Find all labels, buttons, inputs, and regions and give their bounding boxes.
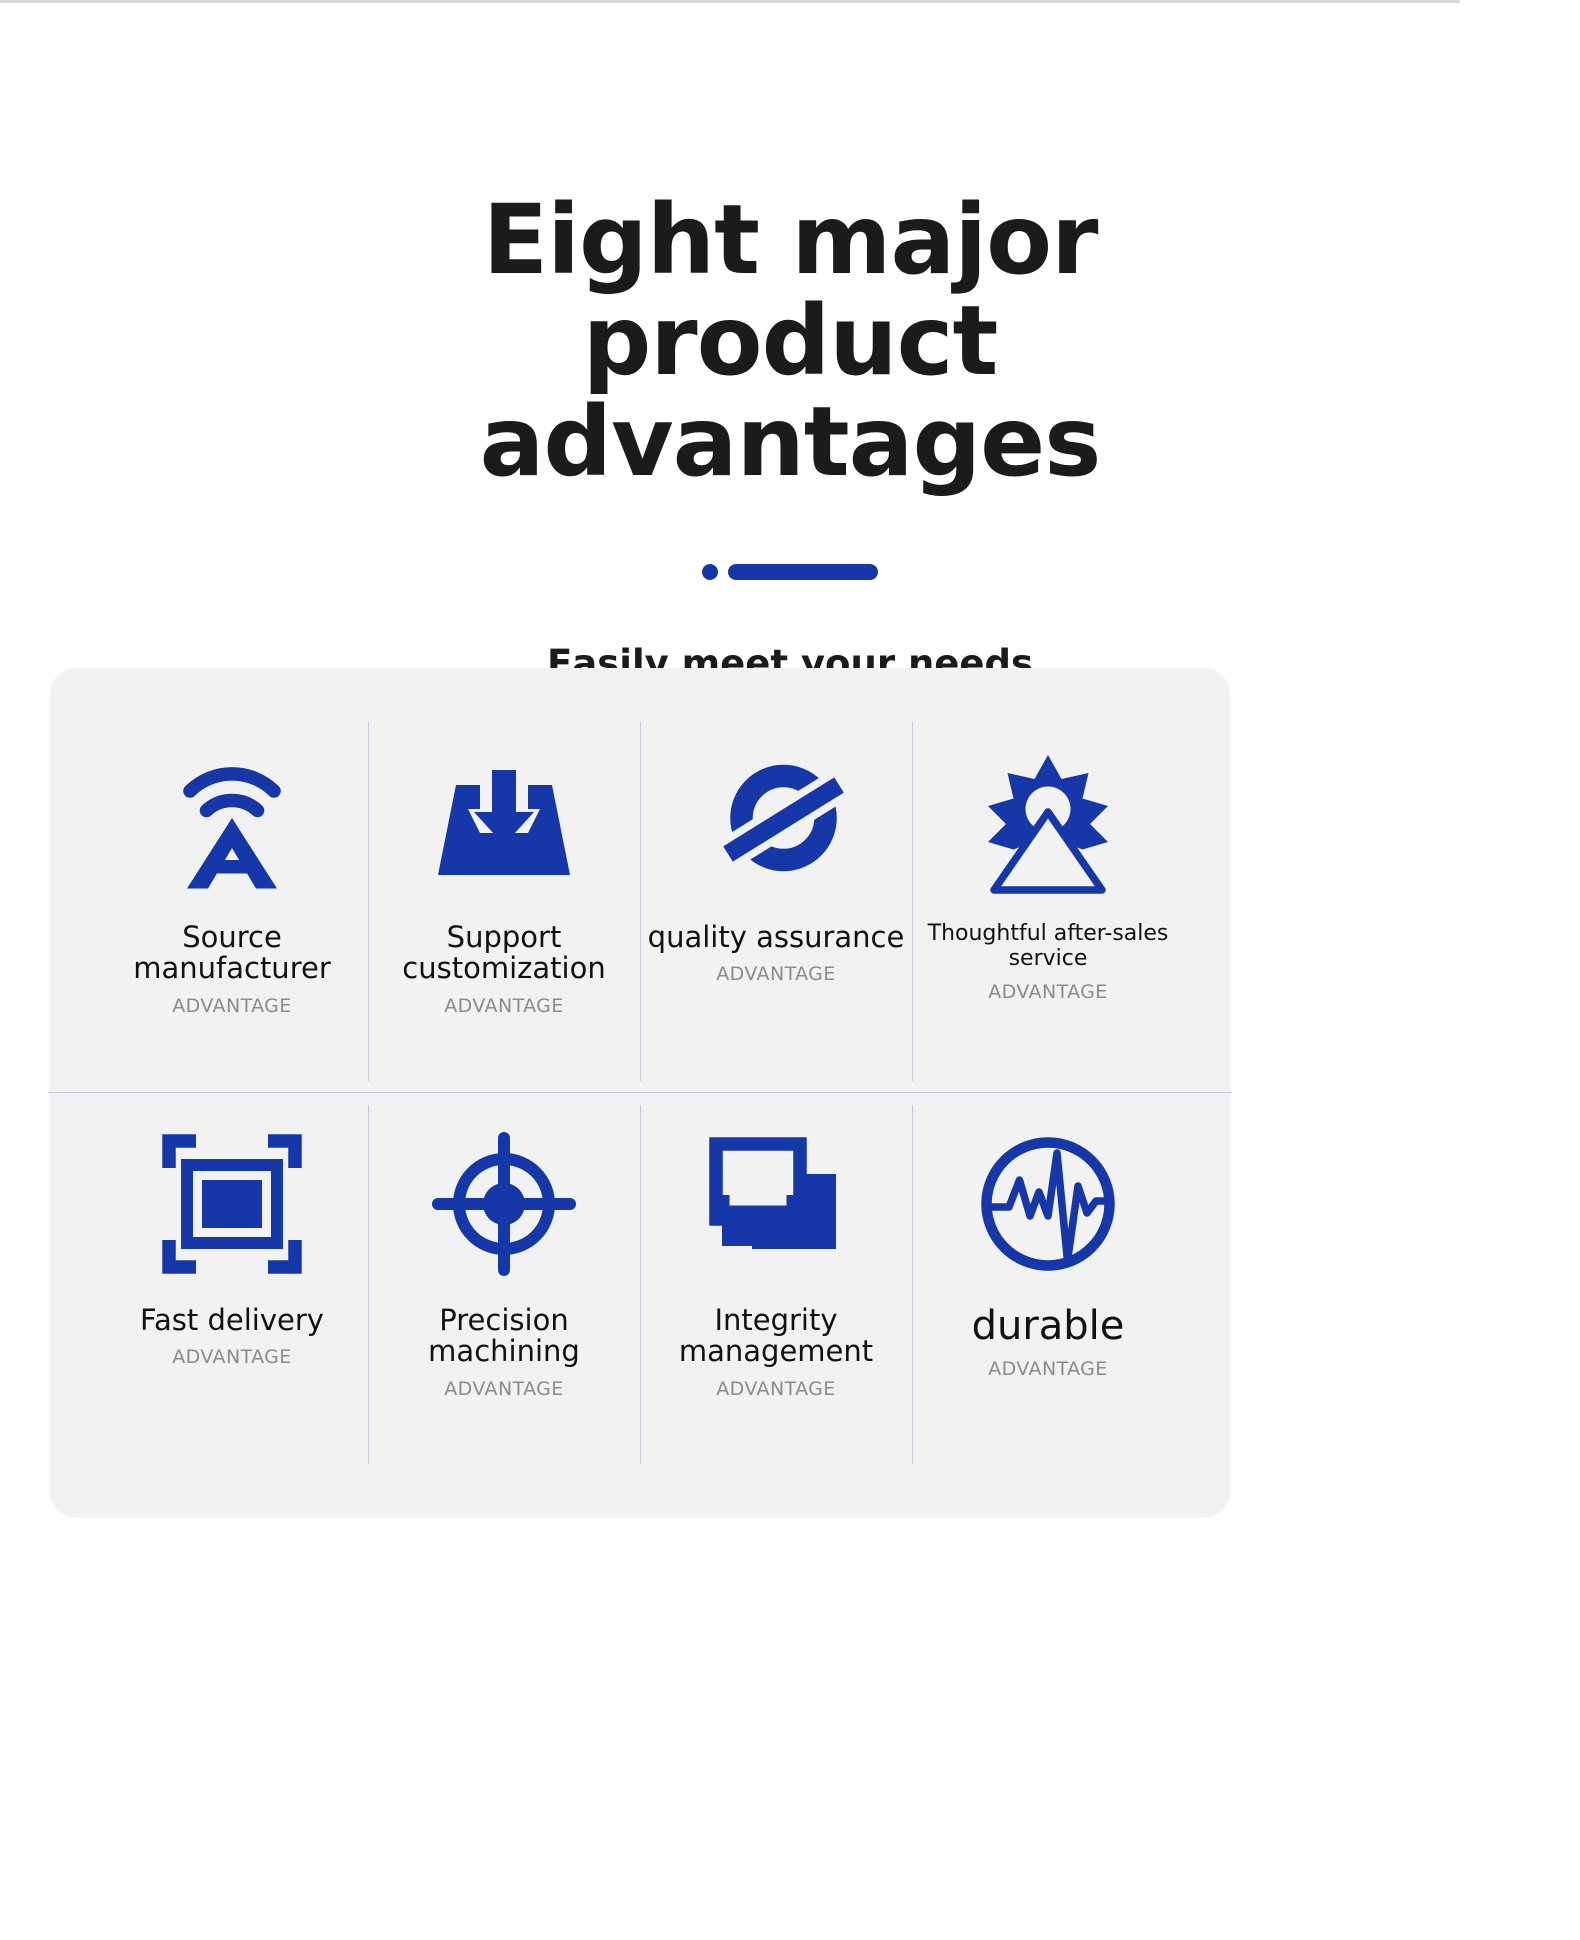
- advantage-title: Integrity management: [640, 1305, 912, 1368]
- inbox-download-icon: [429, 746, 579, 896]
- sunburst-mountain-icon: [973, 746, 1123, 896]
- advantage-title: Support customization: [368, 922, 640, 985]
- advantage-subtitle: ADVANTAGE: [368, 995, 640, 1017]
- advantage-subtitle: ADVANTAGE: [640, 963, 912, 985]
- advantage-label-block: Fast delivery ADVANTAGE: [96, 1279, 368, 1368]
- advantages-panel: Source manufacturer ADVANTAGE Support cu…: [50, 668, 1230, 1518]
- advantage-title: durable: [912, 1305, 1184, 1348]
- scan-frame-icon: [157, 1129, 307, 1279]
- page-header: Eight major product advantages Easily me…: [0, 190, 1580, 729]
- advantage-card-source-manufacturer[interactable]: Source manufacturer ADVANTAGE: [96, 710, 368, 1093]
- advantage-label-block: Support customization ADVANTAGE: [368, 896, 640, 1017]
- advantage-label-block: Integrity management ADVANTAGE: [640, 1279, 912, 1400]
- waveform-circle-icon: [973, 1129, 1123, 1279]
- top-edge-line: [0, 0, 1460, 3]
- advantage-card-quality-assurance[interactable]: quality assurance ADVANTAGE: [640, 710, 912, 1093]
- advantage-subtitle: ADVANTAGE: [368, 1378, 640, 1400]
- advantages-grid: Source manufacturer ADVANTAGE Support cu…: [96, 710, 1184, 1476]
- advantage-title: Source manufacturer: [96, 922, 368, 985]
- advantage-label-block: Thoughtful after-sales service ADVANTAGE: [912, 896, 1184, 1003]
- divider-dot-icon: [702, 564, 718, 580]
- advantage-title: Fast delivery: [96, 1305, 368, 1336]
- advantage-subtitle: ADVANTAGE: [96, 1346, 368, 1368]
- advantage-card-integrity-management[interactable]: Integrity management ADVANTAGE: [640, 1093, 912, 1476]
- advantage-title: Thoughtful after-sales service: [912, 922, 1184, 971]
- advantages-page: Eight major product advantages Easily me…: [0, 0, 1580, 1940]
- advantage-subtitle: ADVANTAGE: [640, 1378, 912, 1400]
- title-divider: [700, 564, 880, 580]
- advantage-subtitle: ADVANTAGE: [912, 1358, 1184, 1380]
- divider-bar-icon: [728, 564, 878, 580]
- advantage-card-durable[interactable]: durable ADVANTAGE: [912, 1093, 1184, 1476]
- advantage-card-support-customization[interactable]: Support customization ADVANTAGE: [368, 710, 640, 1093]
- no-defect-ring-icon: [701, 746, 851, 896]
- crosshair-target-icon: [429, 1129, 579, 1279]
- broadcast-tower-icon: [157, 746, 307, 896]
- advantage-card-after-sales-service[interactable]: Thoughtful after-sales service ADVANTAGE: [912, 710, 1184, 1093]
- advantage-title: Precision machining: [368, 1305, 640, 1368]
- advantage-label-block: quality assurance ADVANTAGE: [640, 896, 912, 985]
- advantage-card-precision-machining[interactable]: Precision machining ADVANTAGE: [368, 1093, 640, 1476]
- advantage-label-block: Source manufacturer ADVANTAGE: [96, 896, 368, 1017]
- stacked-windows-icon: [701, 1129, 851, 1279]
- advantage-card-fast-delivery[interactable]: Fast delivery ADVANTAGE: [96, 1093, 368, 1476]
- advantage-subtitle: ADVANTAGE: [912, 981, 1184, 1003]
- page-title: Eight major product advantages: [260, 190, 1320, 492]
- advantage-label-block: Precision machining ADVANTAGE: [368, 1279, 640, 1400]
- advantage-subtitle: ADVANTAGE: [96, 995, 368, 1017]
- advantage-label-block: durable ADVANTAGE: [912, 1279, 1184, 1380]
- advantage-title: quality assurance: [640, 922, 912, 953]
